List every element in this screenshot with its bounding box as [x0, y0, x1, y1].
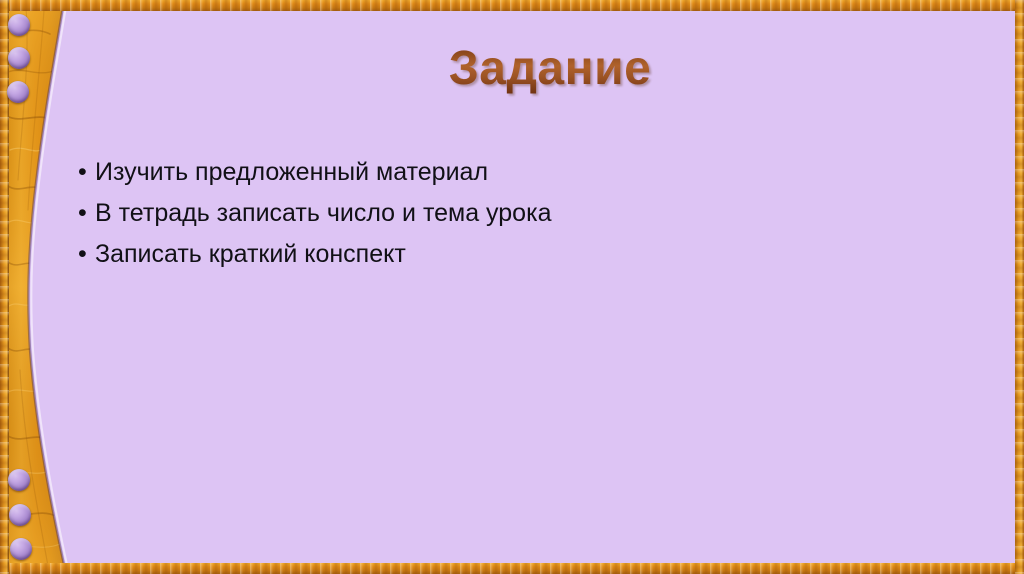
slide-title: Задание [140, 44, 960, 94]
rivet-stud-icon [7, 81, 29, 103]
bullet-marker-icon: • [78, 234, 95, 275]
rivet-stud-icon [8, 469, 30, 491]
rivet-stud-icon [8, 14, 30, 36]
slide-content: Задание • Изучить предложенный материал … [0, 0, 1024, 574]
bullet-marker-icon: • [78, 152, 95, 193]
frame-edge-top [0, 0, 1024, 11]
rivet-stud-icon [10, 538, 32, 560]
bullet-item: • Изучить предложенный материал [78, 152, 958, 193]
rivet-stud-icon [8, 47, 30, 69]
presentation-slide: Задание • Изучить предложенный материал … [0, 0, 1024, 574]
bullet-text: Записать краткий конспект [95, 234, 406, 275]
bullet-item: • В тетрадь записать число и тема урока [78, 193, 958, 234]
bullet-text: Изучить предложенный материал [95, 152, 488, 193]
frame-edge-right [1015, 0, 1024, 574]
bullet-marker-icon: • [78, 193, 95, 234]
frame-edge-bottom [0, 563, 1024, 574]
rivet-stud-icon [9, 504, 31, 526]
bullet-list: • Изучить предложенный материал • В тетр… [78, 152, 958, 275]
bullet-item: • Записать краткий конспект [78, 234, 958, 275]
bullet-text: В тетрадь записать число и тема урока [95, 193, 551, 234]
